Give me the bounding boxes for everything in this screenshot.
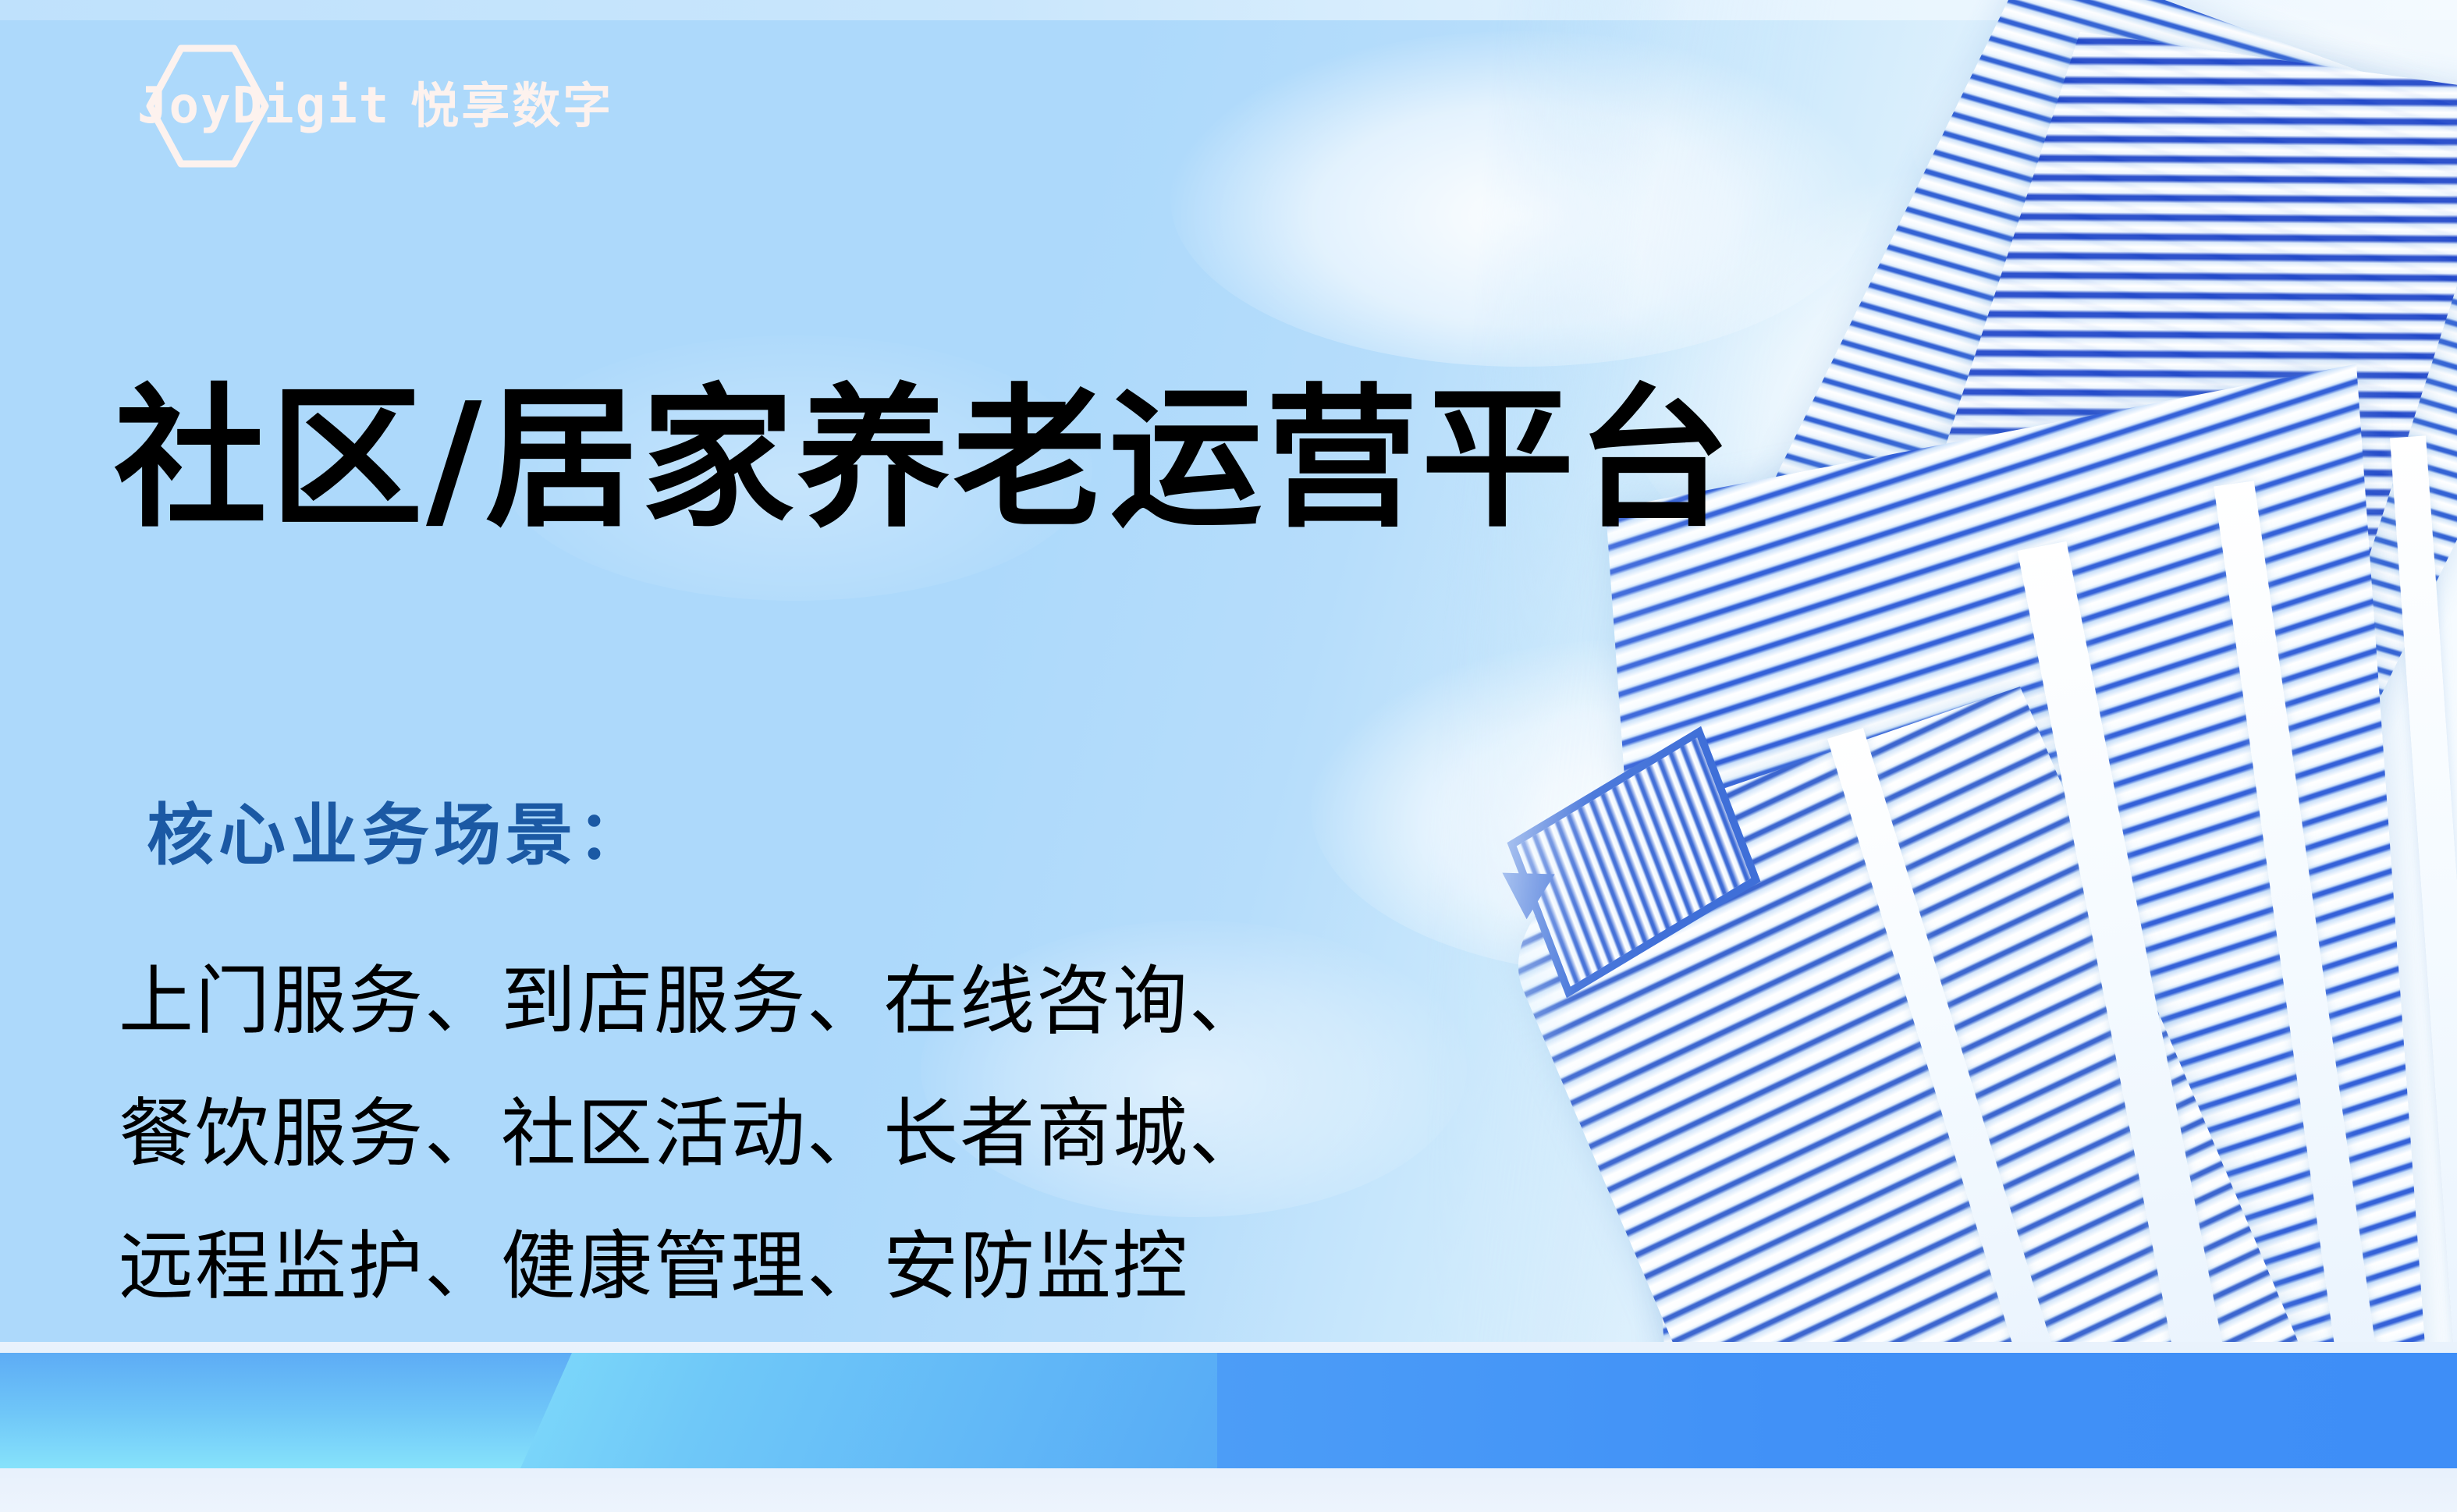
scenario-list: 上门服务、到店服务、在线咨询、 餐饮服务、社区活动、长者商城、 远程监护、健康管… (119, 935, 1266, 1333)
band-block-right (1217, 1353, 2457, 1468)
section-subheading: 核心业务场景： (147, 780, 649, 878)
bottom-decorative-band (0, 1342, 2457, 1512)
slide-root: JoyDigit 悦享数字 社区/居家养老运营平台 核心业务场景： 上门服务、到… (0, 0, 2457, 1512)
logo-chinese-name: 悦享数字 (410, 82, 613, 130)
band-parallelogram-left (0, 1353, 572, 1468)
brand-logo: JoyDigit 悦享数字 (137, 66, 613, 147)
scenario-line: 上门服务、到店服务、在线咨询、 (119, 935, 1266, 1067)
scenario-line: 远程监护、健康管理、安防监控 (119, 1200, 1266, 1333)
skyscraper-photo (1427, 0, 2457, 1412)
logo-wordmark: JoyDigit (137, 81, 390, 131)
scenario-line: 餐饮服务、社区活动、长者商城、 (119, 1067, 1266, 1200)
page-title: 社区/居家养老运营平台 (114, 372, 1734, 548)
